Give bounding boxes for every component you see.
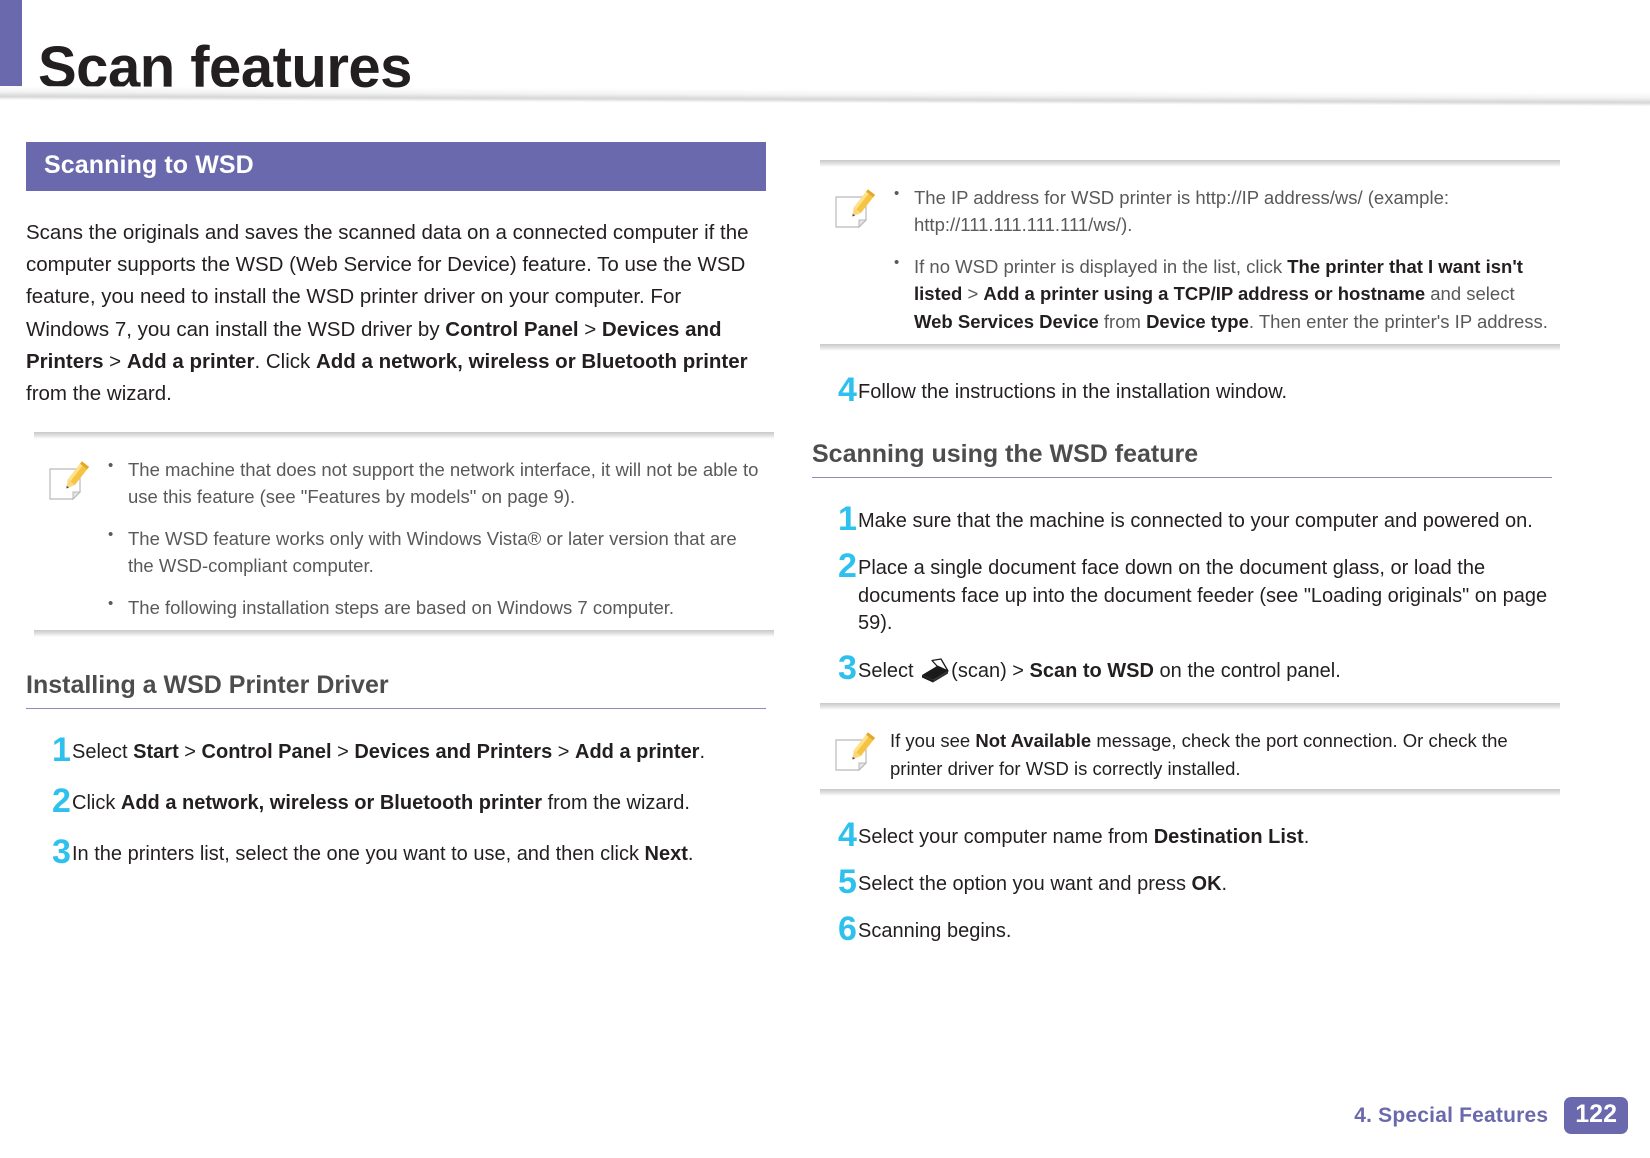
left-column: Scanning to WSD Scans the originals and … bbox=[26, 142, 766, 889]
step-number: 3 bbox=[812, 653, 858, 684]
subheading-scanning-using-wsd-feature: Scanning using the WSD feature bbox=[812, 440, 1552, 477]
step-text: Select your computer name from Destinati… bbox=[858, 820, 1552, 851]
footer-page-number: 122 bbox=[1564, 1097, 1628, 1134]
note-bullet-item: The following installation steps are bas… bbox=[104, 594, 766, 621]
title-accent-bar bbox=[0, 0, 22, 92]
step-item: 5Select the option you want and press OK… bbox=[812, 867, 1552, 898]
subheading-rule bbox=[812, 477, 1552, 478]
step-item: 1Select Start > Control Panel > Devices … bbox=[26, 735, 766, 766]
step-number: 6 bbox=[812, 914, 858, 945]
subheading-rule bbox=[26, 708, 766, 709]
step-number: 1 bbox=[812, 504, 858, 535]
step-text: In the printers list, select the one you… bbox=[72, 837, 766, 868]
step-number: 5 bbox=[812, 867, 858, 898]
steps-scanning-first: 1Make sure that the machine is connected… bbox=[812, 504, 1552, 685]
footer-chapter-label: 4. Special Features bbox=[1354, 1104, 1548, 1128]
note-box-wsd-requirements: The machine that does not support the ne… bbox=[34, 432, 774, 637]
note-pencil-icon bbox=[46, 460, 90, 502]
note-box-ip-address: The IP address for WSD printer is http:/… bbox=[820, 160, 1560, 351]
subheading-installing-wsd-printer-driver: Installing a WSD Printer Driver bbox=[26, 671, 766, 708]
step-text: Scanning begins. bbox=[858, 914, 1552, 945]
note-text: If you see Not Available message, check … bbox=[890, 727, 1552, 782]
step-number: 2 bbox=[812, 551, 858, 582]
step-item: 2Place a single document face down on th… bbox=[812, 551, 1552, 637]
note-pencil-icon bbox=[832, 731, 876, 773]
step-item: 1Make sure that the machine is connected… bbox=[812, 504, 1552, 535]
step-number: 3 bbox=[26, 837, 72, 868]
step-text: Select Start > Control Panel > Devices a… bbox=[72, 735, 766, 766]
note-box-not-available: If you see Not Available message, check … bbox=[820, 703, 1560, 796]
step-text: Follow the instructions in the installat… bbox=[858, 375, 1552, 406]
section-banner-scanning-to-wsd: Scanning to WSD bbox=[26, 142, 766, 191]
step-number: 2 bbox=[26, 786, 72, 817]
scanner-icon bbox=[920, 657, 950, 683]
steps-installing-driver: 1Select Start > Control Panel > Devices … bbox=[26, 735, 766, 869]
step-text: Select the option you want and press OK. bbox=[858, 867, 1552, 898]
steps-scanning-last: 4Select your computer name from Destinat… bbox=[812, 820, 1552, 946]
step-number: 1 bbox=[26, 735, 72, 766]
step-item: 6Scanning begins. bbox=[812, 914, 1552, 945]
intro-paragraph: Scans the originals and saves the scanne… bbox=[26, 217, 766, 410]
note-bullet-item: The WSD feature works only with Windows … bbox=[104, 525, 766, 580]
page-footer: 4. Special Features 122 bbox=[1354, 1097, 1628, 1134]
step-item: 4Follow the instructions in the installa… bbox=[812, 375, 1552, 406]
note-pencil-icon bbox=[832, 188, 876, 230]
step-number: 4 bbox=[812, 375, 858, 406]
note-bullet-list: The IP address for WSD printer is http:/… bbox=[890, 184, 1552, 335]
note-bullet-item: The machine that does not support the ne… bbox=[104, 456, 766, 511]
step-item: 2Click Add a network, wireless or Blueto… bbox=[26, 786, 766, 817]
step-number: 4 bbox=[812, 820, 858, 851]
right-column: The IP address for WSD printer is http:/… bbox=[812, 142, 1552, 962]
note-bullet-item: If no WSD printer is displayed in the li… bbox=[890, 253, 1552, 335]
step-text: Make sure that the machine is connected … bbox=[858, 504, 1552, 535]
step-text: Select (scan) > Scan to WSD on the contr… bbox=[858, 653, 1552, 685]
step-four-follow-instructions: 4Follow the instructions in the installa… bbox=[812, 375, 1552, 406]
note-bullet-item: The IP address for WSD printer is http:/… bbox=[890, 184, 1552, 239]
step-item: 3In the printers list, select the one yo… bbox=[26, 837, 766, 868]
step-text: Place a single document face down on the… bbox=[858, 551, 1552, 637]
step-item: 4Select your computer name from Destinat… bbox=[812, 820, 1552, 851]
note-bullet-list: The machine that does not support the ne… bbox=[104, 456, 766, 621]
step-text: Click Add a network, wireless or Bluetoo… bbox=[72, 786, 766, 817]
title-divider bbox=[0, 86, 1650, 106]
step-item: 3Select (scan) > Scan to WSD on the cont… bbox=[812, 653, 1552, 685]
